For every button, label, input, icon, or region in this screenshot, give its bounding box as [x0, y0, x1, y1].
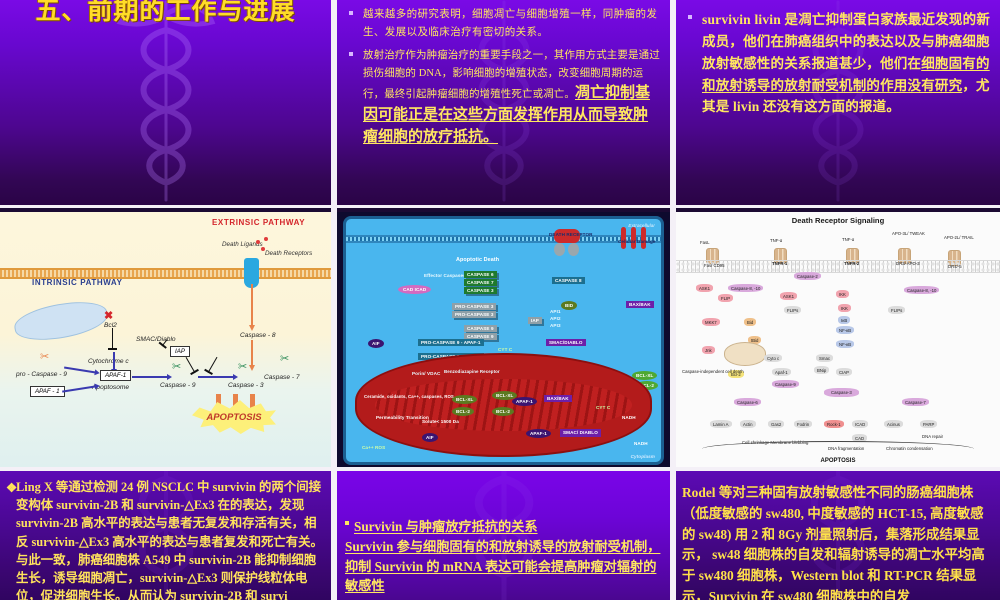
dr4-5-label: DR4/-5	[948, 264, 962, 269]
apaf1-label: APAF-1	[512, 397, 537, 406]
slide-2-body: 越来越多的研究表明，细胞凋亡与细胞增殖一样，同肿瘤的发生、发展以及临床治疗有密切…	[337, 0, 670, 148]
death-receptor-label: DEATH RECEPTOR	[549, 232, 593, 237]
caspase-8-label: Caspase - 8	[240, 332, 276, 339]
tnf-alpha-label: TNF-α	[770, 238, 782, 243]
smac-diablo-top-label: SMAC/DIABLO	[546, 339, 586, 346]
mitochondrial-apoptosis-diagram: Extracellular Cytoplasm DEATH RECEPTOR C…	[337, 208, 670, 467]
ligand-dot-icon	[261, 247, 265, 251]
mitochondrion-icon	[12, 296, 110, 346]
nadh-label: NADH	[622, 415, 636, 420]
apaf1-label: APAF-1	[526, 429, 551, 438]
caspase8-down-arrow	[251, 340, 253, 366]
receptor-to-caspase8-arrow	[251, 284, 253, 326]
nfkb-label: NF-κB	[836, 340, 854, 348]
nadh-label: NADH	[634, 441, 648, 446]
death-receptor-signaling-diagram: Death Receptor Signaling FasL TNF-α TNF-…	[676, 208, 1000, 467]
ikk-label: IKK	[836, 290, 849, 298]
iap-label: IAP	[528, 317, 542, 324]
slide-7-text: Ling X 等通过检测 24 例 NSCLC 中 survivin 的两个间接…	[16, 480, 323, 600]
apaf1-to-apoptosome-arrow	[62, 385, 96, 392]
pro-caspase9-to-apaf1-arrow	[64, 367, 96, 374]
apoptosis-label: APOPTOSIS	[676, 458, 1000, 464]
permeability-transition-label: Permeability Transition	[376, 415, 429, 420]
slide-3-body: survivin livin 是凋亡抑制蛋白家族最近发现的新成员，他们在肺癌组织…	[676, 0, 1000, 118]
ligand-dot-icon	[264, 237, 268, 241]
cad-icad-label: CAD ICAD	[398, 285, 431, 294]
caspase-9-label: Caspase-9	[772, 380, 799, 388]
jnk-label: Jnk	[702, 346, 715, 354]
slide-thumbnail-4-apoptosis-pathway[interactable]: EXTRINSIC PATHWAY Death Ligands Death Re…	[0, 208, 331, 467]
smac-label: Smac	[816, 354, 833, 362]
bcl2-inhibition-line	[112, 328, 113, 350]
smac-diablo-label: SMAC/Diablo	[136, 336, 176, 343]
ikb-label: IκB	[838, 316, 850, 324]
slide-7-bullet: ❖ Ling X 等通过检测 24 例 NSCLC 中 survivin 的两个…	[6, 478, 325, 600]
bullet-square-icon	[349, 11, 353, 15]
caspase-9-label: CASPASE 9	[464, 325, 497, 332]
slide-thumbnail-grid: 五、前期的工作与进展 越来越多的研究表明，细胞凋亡与细胞增殖一样，同肿瘤的发生、…	[0, 0, 1000, 600]
slide-thumbnail-3[interactable]: survivin livin 是凋亡抑制蛋白家族最近发现的新成员，他们在肺癌组织…	[676, 0, 1000, 205]
caspase-8-label: CASPASE 8	[552, 277, 585, 284]
apoptosis-burst-label: APOPTOSIS	[192, 400, 276, 434]
caspase-9-label: Caspase - 9	[160, 382, 196, 389]
ask1-label: ASK1	[780, 292, 797, 300]
api3-label: API3	[550, 323, 561, 328]
parp-label: PARP	[920, 420, 937, 428]
caspase-3-label: Caspase-3	[824, 388, 859, 397]
aif-label: AIF	[368, 339, 384, 348]
slide-3-bullet: survivin livin 是凋亡抑制蛋白家族最近发现的新成员，他们在肺癌组织…	[688, 9, 992, 118]
api2-label: API2	[550, 316, 561, 321]
death-receptors-label: Death Receptors	[265, 250, 305, 257]
flips-label: FLIPs	[888, 306, 905, 314]
caspase-7-label: Caspase - 7	[264, 374, 300, 381]
cytochrome-c-label: Cytochrome c	[88, 358, 129, 365]
gas2-label: Gas2	[768, 420, 784, 428]
apaf1-label: Apaf-1	[772, 368, 791, 376]
death-ligands-label: Death Ligands	[222, 241, 254, 248]
caspase-6-label: CASPASE 6	[464, 271, 497, 278]
slide-8-body: Survivin 与肿瘤放疗抵抗的关系 Survivin 参与细胞固有的和放射诱…	[337, 471, 670, 596]
slide-thumbnail-8[interactable]: Survivin 与肿瘤放疗抵抗的关系 Survivin 参与细胞固有的和放射诱…	[337, 471, 670, 600]
bid-label: Bid	[744, 318, 756, 326]
apo2l-trail-label: APO-2L/ TRAIL	[944, 236, 974, 241]
dr3-apo3-label: DR3/ APO-3	[896, 262, 920, 267]
cytoplasm-label: Cytoplasm	[631, 454, 655, 459]
scissors-icon: ✂	[172, 360, 181, 373]
ikk-sub-label: IKK	[838, 304, 851, 312]
bnip-label: BNip	[814, 366, 829, 374]
ceramide-list-label: Ceramide, oxidants, Ca++, caspases, ROS	[364, 395, 454, 400]
cellular-damage-label: Cellular Damage	[618, 239, 656, 244]
iap-inhibits-caspase3-line	[208, 357, 218, 373]
caspase-independent-cell-death-label: Caspase-independent cell death	[682, 370, 716, 375]
cyto-c-label: Cyto c	[764, 354, 782, 362]
plasma-membrane-icon	[346, 235, 661, 243]
ciap-label: CIAP	[836, 368, 852, 376]
cyt-c-label: CYT C	[498, 347, 512, 352]
slide-8-heading: Survivin 与肿瘤放疗抵抗的关系	[345, 517, 662, 537]
bax-bak-top-label: BAX/BAK	[626, 301, 654, 308]
pro-caspase-3-label: PRO-CASPASE 3	[452, 311, 496, 318]
bid-label: BID	[561, 301, 577, 310]
caspase-3-label: Caspase - 3	[228, 382, 264, 389]
mitochondrion-icon	[724, 342, 766, 366]
damage-bar-icon	[621, 227, 626, 249]
cyt-c-label: CYT C	[596, 405, 610, 410]
porin-vdac-label: Porin/ VDAC	[412, 371, 440, 376]
aif-label: AIF	[422, 433, 438, 442]
cytochrome-arrow	[113, 352, 115, 370]
slide-thumbnail-7[interactable]: ❖ Ling X 等通过检测 24 例 NSCLC 中 survivin 的两个…	[0, 471, 331, 600]
slide-8-heading-text: Survivin 与肿瘤放疗抵抗的关系	[354, 519, 538, 534]
bcl-2-label: BCL-2	[492, 407, 514, 416]
damage-bar-icon	[641, 227, 646, 249]
bcl-2-label: BCL-2	[452, 407, 474, 416]
caspase-8-10-label: Caspase-8, -10	[904, 286, 939, 294]
receptor-foot-icon	[568, 243, 579, 256]
slide-9-body: Rodel 等对三种固有放射敏感性不同的肠癌细胞株（低度敏感的 sw480, 中…	[676, 471, 1000, 600]
flip-label: FLIP	[718, 294, 733, 302]
scissors-icon: ✂	[280, 352, 289, 365]
tnfr2-label: TNFR-2	[844, 261, 859, 266]
effector-caspases-label: Effector Caspases	[424, 273, 466, 278]
caspase-2-label: Caspase-2	[794, 272, 821, 280]
damage-bar-icon	[631, 227, 636, 249]
slide-thumbnail-9[interactable]: Rodel 等对三种固有放射敏感性不同的肠癌细胞株（低度敏感的 sw480, 中…	[676, 471, 1000, 600]
lamin-a-label: Lamin A	[710, 420, 732, 428]
bullet-square-icon	[349, 52, 353, 56]
apoptosis-pathway-diagram: EXTRINSIC PATHWAY Death Ligands Death Re…	[0, 208, 331, 467]
caspase-7-label: Caspase-7	[902, 398, 929, 406]
bullet-square-icon	[688, 15, 692, 19]
caspase-8-10-label: Caspase-8, -10	[728, 284, 763, 292]
benzodiazepine-receptor-label: Benzodiazapine Receptor	[444, 369, 500, 374]
slide-9-text: Rodel 等对三种固有放射敏感性不同的肠癌细胞株（低度敏感的 sw480, 中…	[682, 485, 985, 600]
ligand-dot-icon	[256, 240, 260, 244]
slide-thumbnail-2[interactable]: 越来越多的研究表明，细胞凋亡与细胞增殖一样，同肿瘤的发生、发展以及临床治疗有密切…	[337, 0, 670, 205]
rock1-label: Rock-1	[824, 420, 844, 428]
dna-repair-label: DNA repair	[922, 434, 943, 439]
bcl2-label: Bcl2	[104, 322, 117, 329]
caspase-3-label: CASPASE 3	[464, 287, 497, 294]
fasl-label: FasL	[700, 240, 710, 245]
apaf1-box: APAF - 1	[30, 386, 65, 397]
slide-2-bullet-2: 放射治疗作为肿瘤治疗的重要手段之一，其作用方式主要是通过损伤细胞的 DNA，影响…	[349, 47, 660, 148]
pro-caspase-9-label: pro - Caspase - 9	[16, 371, 67, 378]
slide-7-body: ❖ Ling X 等通过检测 24 例 NSCLC 中 survivin 的两个…	[0, 471, 331, 600]
ca-ros-label: Ca++ ROS	[362, 445, 385, 451]
bullet-square-icon	[345, 521, 349, 525]
tnf-alpha-label: TNF-α	[842, 237, 854, 242]
bax-bak-label: BAX/BAK	[544, 395, 572, 402]
acinus-label: Acinus	[884, 420, 903, 428]
slide-thumbnail-5-mitochondrial-apoptosis[interactable]: Extracellular Cytoplasm DEATH RECEPTOR C…	[337, 208, 670, 467]
cell-body-icon: Extracellular Cytoplasm DEATH RECEPTOR C…	[343, 216, 664, 465]
apo3l-tweak-label: APO-3L/ TWEAK	[892, 232, 925, 237]
fodrin-label: Fodrin	[794, 420, 812, 428]
apoptotic-death-label: Apoptotic Death	[456, 257, 499, 263]
fas-cd95-label: Fas/ CD95	[704, 264, 725, 269]
slide-2-bullet-1-text: 越来越多的研究表明，细胞凋亡与细胞增殖一样，同肿瘤的发生、发展以及临床治疗有密切…	[363, 9, 657, 38]
tnfr1-label: TNFR-1	[772, 261, 787, 266]
apoptosome-to-caspase9-arrow	[132, 376, 168, 378]
ask1-label: ASK1	[696, 284, 713, 292]
slide-8-body-text: Survivin 参与细胞固有的和放射诱导的放射耐受机制，抑制 Survivin…	[345, 537, 662, 596]
bcl2-cross-icon: ✖	[104, 309, 113, 322]
api1-label: API1	[550, 309, 561, 314]
slide-thumbnail-6-death-receptor-signaling[interactable]: Death Receptor Signaling FasL TNF-α TNF-…	[676, 208, 1000, 467]
diagram-title: Death Receptor Signaling	[676, 216, 1000, 225]
iap-inhibits-caspase9-line	[186, 357, 196, 373]
icad-label: ICAD	[852, 420, 868, 428]
flips-label: FLIPs	[784, 306, 801, 314]
slide-thumbnail-1-title[interactable]: 五、前期的工作与进展	[0, 0, 331, 205]
pro-caspase9-apaf1-label: PRO-CASPASE 9 - APAF-1	[418, 339, 484, 346]
slide-2-bullet-1: 越来越多的研究表明，细胞凋亡与细胞增殖一样，同肿瘤的发生、发展以及临床治疗有密切…	[349, 6, 660, 42]
slide-1-title: 五、前期的工作与进展	[0, 0, 331, 27]
solute-label: Solute< 1500 Da	[422, 419, 459, 425]
diamond-bullet-icon: ❖	[6, 479, 17, 497]
slide-2-emphasis-rest: 可能正是在这些方面发挥作用从而导致肿瘤细胞的放疗抵抗。	[363, 107, 648, 145]
caduceus-watermark-icon	[106, 0, 226, 205]
mkk7-label: MKK7	[702, 318, 720, 326]
scissors-icon: ✂	[238, 360, 247, 373]
nfkb-label: NF-κB	[836, 326, 854, 334]
scissors-icon: ✂	[40, 350, 49, 363]
caspase9-to-caspase3-arrow	[198, 376, 234, 378]
intrinsic-pathway-label: INTRINSIC PATHWAY	[32, 278, 102, 287]
actin-label: Actin	[740, 420, 756, 428]
smac-diablo-label: SMAC/ DIABLO	[560, 429, 601, 437]
caspase-6-label: Caspase-6	[734, 398, 761, 406]
receptor-foot-icon	[554, 243, 565, 256]
iap-box: IAP	[170, 346, 190, 357]
pro-caspase-3-label: PRO-CASPASE 3	[452, 303, 496, 310]
extrinsic-pathway-label: EXTRINSIC PATHWAY	[212, 218, 298, 227]
caspase-7-label: CASPASE 7	[464, 279, 497, 286]
apaf1-node: APAF-1	[100, 370, 131, 381]
